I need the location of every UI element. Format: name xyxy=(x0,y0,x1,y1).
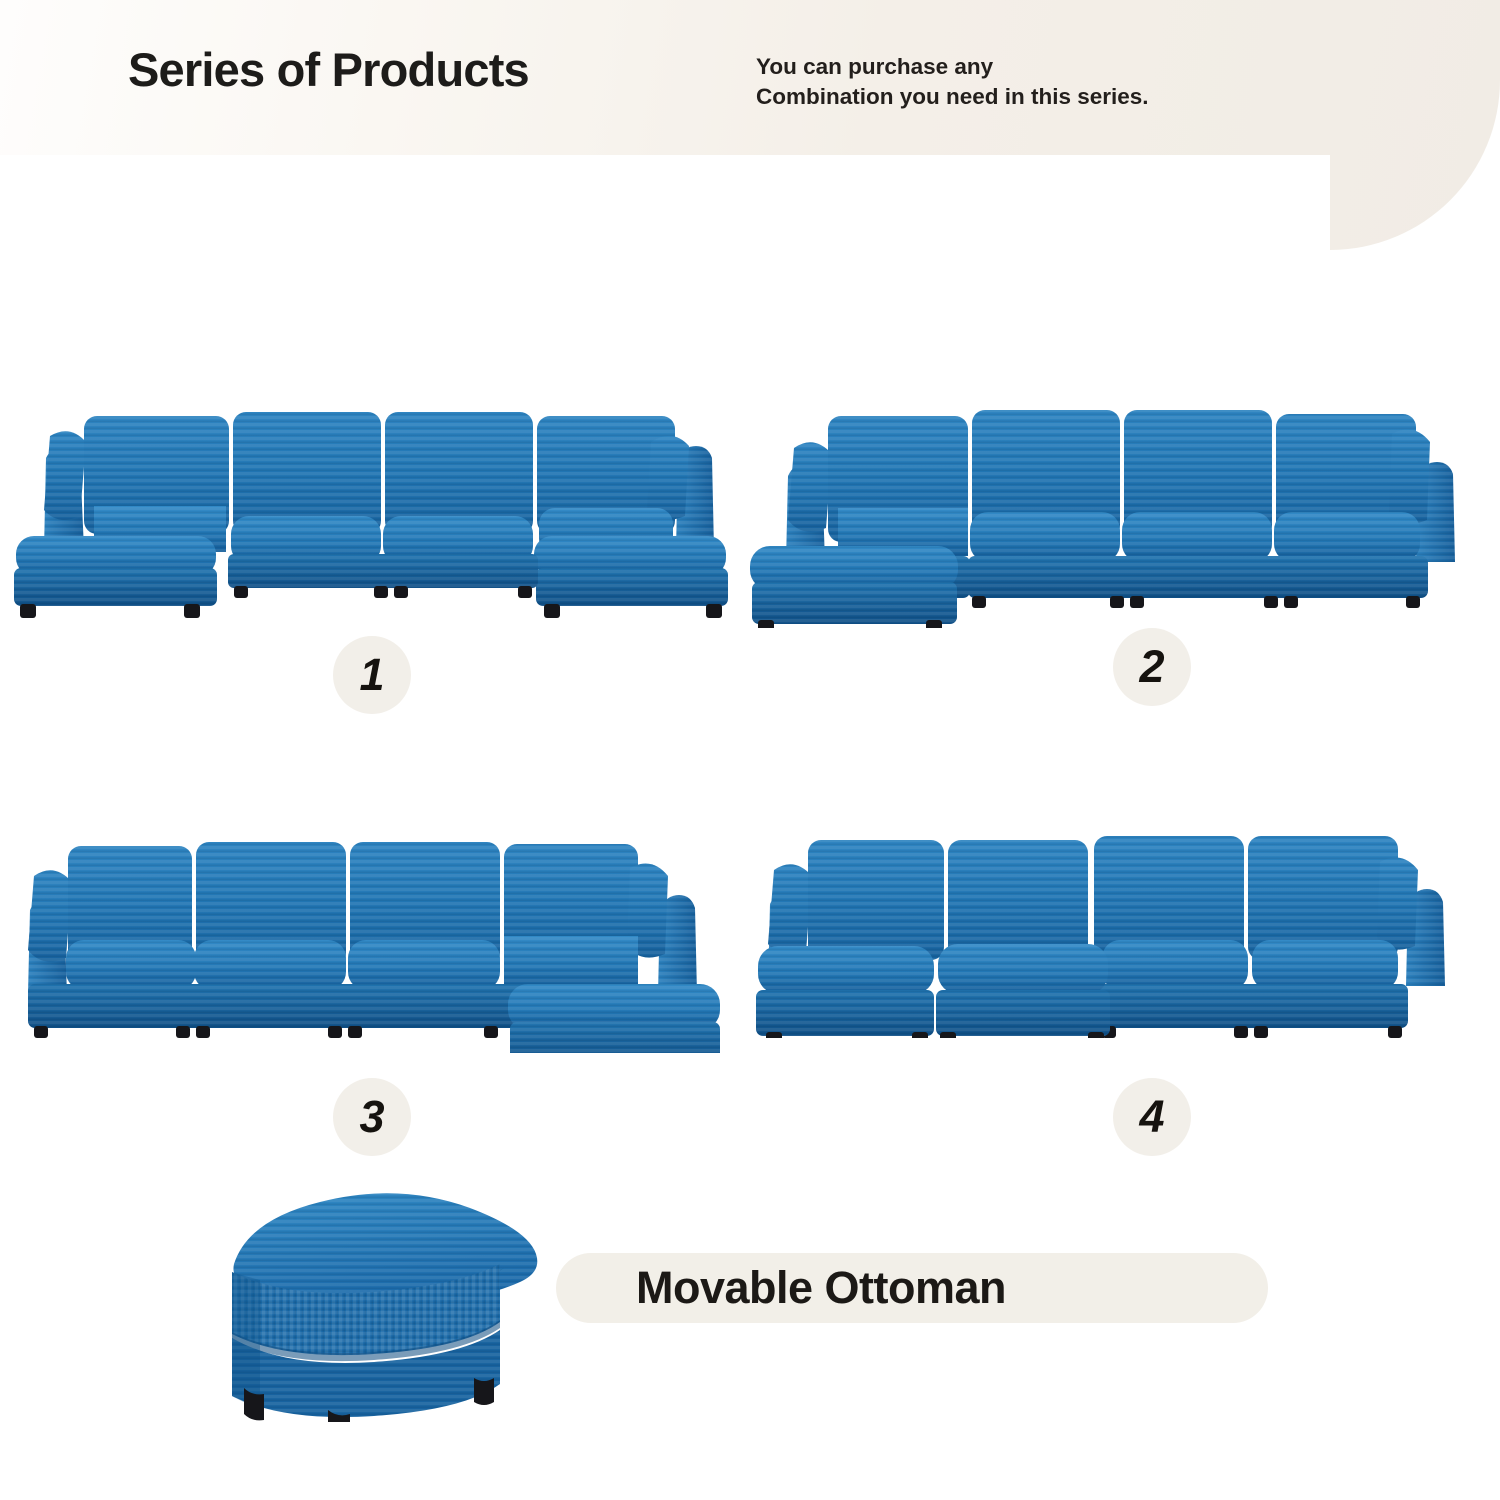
header-subtitle-line-2: Combination you need in this series. xyxy=(756,82,1149,112)
config-badge-4-label: 4 xyxy=(1139,1094,1164,1139)
config-badge-2: 2 xyxy=(1113,628,1191,706)
movable-ottoman-label: Movable Ottoman xyxy=(636,1254,1236,1322)
sofa-config-1 xyxy=(14,412,728,618)
page-title: Series of Products xyxy=(128,42,529,97)
config-badge-4: 4 xyxy=(1113,1078,1191,1156)
header-subtitle: You can purchase any Combination you nee… xyxy=(756,52,1149,112)
sofa-config-4 xyxy=(756,836,1445,1038)
config-badge-1-label: 1 xyxy=(359,652,384,697)
header-band xyxy=(0,0,1500,250)
config-badge-2-label: 2 xyxy=(1139,644,1164,689)
header-band-carve xyxy=(0,155,1330,315)
product-config-2[interactable] xyxy=(746,388,1466,628)
config-badge-3-label: 3 xyxy=(359,1094,384,1139)
movable-ottoman-product[interactable] xyxy=(206,1192,596,1422)
header-subtitle-line-1: You can purchase any xyxy=(756,52,1149,82)
product-series-infographic: Series of Products You can purchase any … xyxy=(0,0,1500,1500)
product-config-1[interactable] xyxy=(6,388,732,618)
sofa-config-3 xyxy=(28,842,720,1053)
config-badge-1: 1 xyxy=(333,636,411,714)
ottoman-3d xyxy=(232,1193,537,1422)
sofa-config-2 xyxy=(750,410,1455,628)
product-config-4[interactable] xyxy=(748,818,1466,1038)
product-config-3[interactable] xyxy=(8,818,732,1053)
config-badge-3: 3 xyxy=(333,1078,411,1156)
